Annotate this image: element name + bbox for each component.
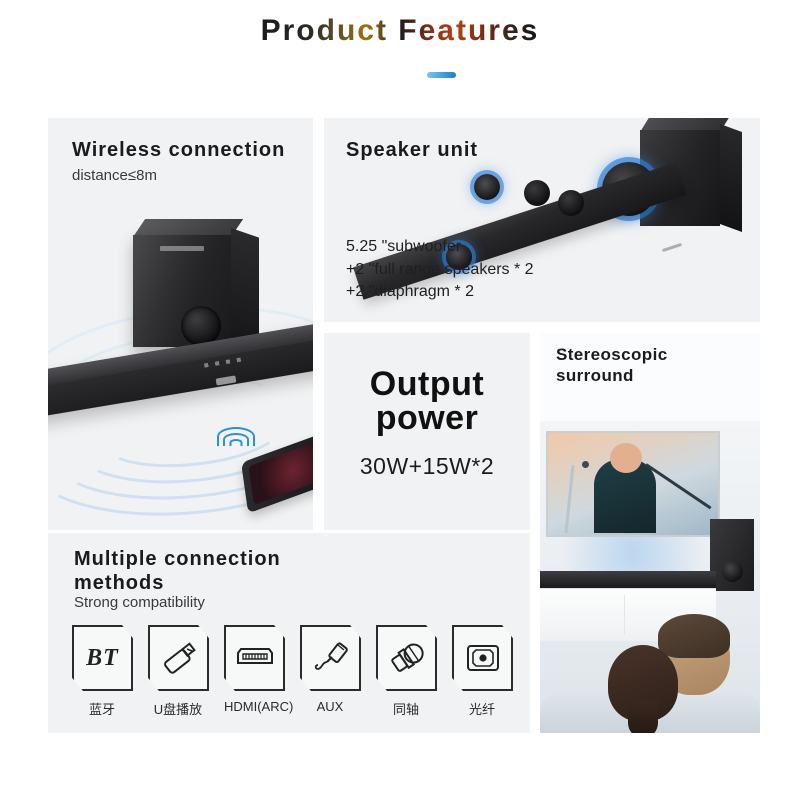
living-room-scene — [540, 421, 760, 733]
wireless-heading: Wireless connection — [72, 138, 285, 162]
output-power-title-line2: power — [324, 401, 530, 435]
panel-wireless-connection: Wireless connection distance≤8m — [48, 118, 313, 530]
connection-item-optical[interactable]: 光纤 — [452, 625, 512, 718]
bt-icon-glyph: BT — [86, 645, 119, 672]
panel-multiple-connection-methods: Multiple connection methods Strong compa… — [48, 533, 530, 733]
connection-label-bluetooth: 蓝牙 — [72, 699, 132, 718]
panel-output-power: Output power 30W+15W*2 — [324, 333, 530, 530]
multiple-connection-heading: Multiple connection methods — [74, 547, 281, 596]
wifi-signal-icon — [216, 418, 256, 446]
panel-stereoscopic-surround: Stereoscopic surround Shocking bass, the… — [540, 333, 760, 733]
speaker-driver-glow — [474, 174, 500, 200]
title-accent-bar — [427, 72, 456, 78]
connection-item-coaxial[interactable]: 同轴 — [376, 625, 436, 718]
television — [546, 431, 720, 537]
stereoscopic-heading: Stereoscopic surround — [556, 345, 668, 386]
connection-label-aux: AUX — [300, 699, 360, 714]
connection-item-aux[interactable]: AUX — [300, 625, 360, 718]
speaker-driver-hole — [524, 180, 550, 206]
viewer-person-front-ponytail — [628, 701, 658, 733]
speaker-control-strip — [662, 243, 682, 252]
connection-item-bluetooth[interactable]: BT 蓝牙 — [72, 625, 132, 718]
connection-icon-row: BT 蓝牙 U盘播放 — [72, 625, 512, 718]
stereoscopic-heading-line2: surround — [556, 366, 668, 387]
scene-subwoofer-driver — [722, 561, 743, 582]
viewer-person-back-hair — [658, 614, 730, 658]
multiple-connection-subtext: Strong compatibility — [74, 593, 205, 613]
output-power-title-line1: Output — [324, 367, 530, 401]
usb-flash-drive-icon[interactable] — [148, 625, 209, 691]
output-power-value: 30W+15W*2 — [324, 453, 530, 480]
stereoscopic-heading-line1: Stereoscopic — [556, 345, 668, 366]
connection-label-hdmi: HDMI(ARC) — [224, 699, 284, 714]
speaker-unit-heading: Speaker unit — [346, 138, 478, 162]
connection-item-hdmi[interactable]: HDMI(ARC) — [224, 625, 284, 718]
connection-label-optical: 光纤 — [452, 699, 512, 718]
page-header: Product Features — [0, 14, 800, 48]
panel-speaker-unit: Speaker unit 5.25 "subwoofer +2 "full ra… — [324, 118, 760, 322]
page-title: Product Features — [261, 14, 540, 48]
coaxial-connector-icon[interactable] — [376, 625, 437, 691]
optical-toslink-icon[interactable] — [452, 625, 513, 691]
multiple-connection-heading-line1: Multiple connection — [74, 547, 281, 571]
speaker-unit-specs: 5.25 "subwoofer +2 "full range speakers … — [346, 236, 534, 304]
scene-soundbar — [540, 571, 716, 588]
wireless-subtext: distance≤8m — [72, 166, 157, 186]
subwoofer-brand-logo — [160, 246, 204, 251]
bluetooth-bt-icon[interactable]: BT — [72, 625, 133, 691]
aux-jack-icon[interactable] — [300, 625, 361, 691]
connection-label-usb: U盘播放 — [148, 699, 208, 718]
hdmi-port-icon[interactable] — [224, 625, 285, 691]
connection-item-usb[interactable]: U盘播放 — [148, 625, 208, 718]
connection-label-coaxial: 同轴 — [376, 699, 436, 718]
speaker-driver-hole — [558, 190, 584, 216]
infographic-stage: Product Features Wireless connection dis… — [0, 0, 800, 800]
